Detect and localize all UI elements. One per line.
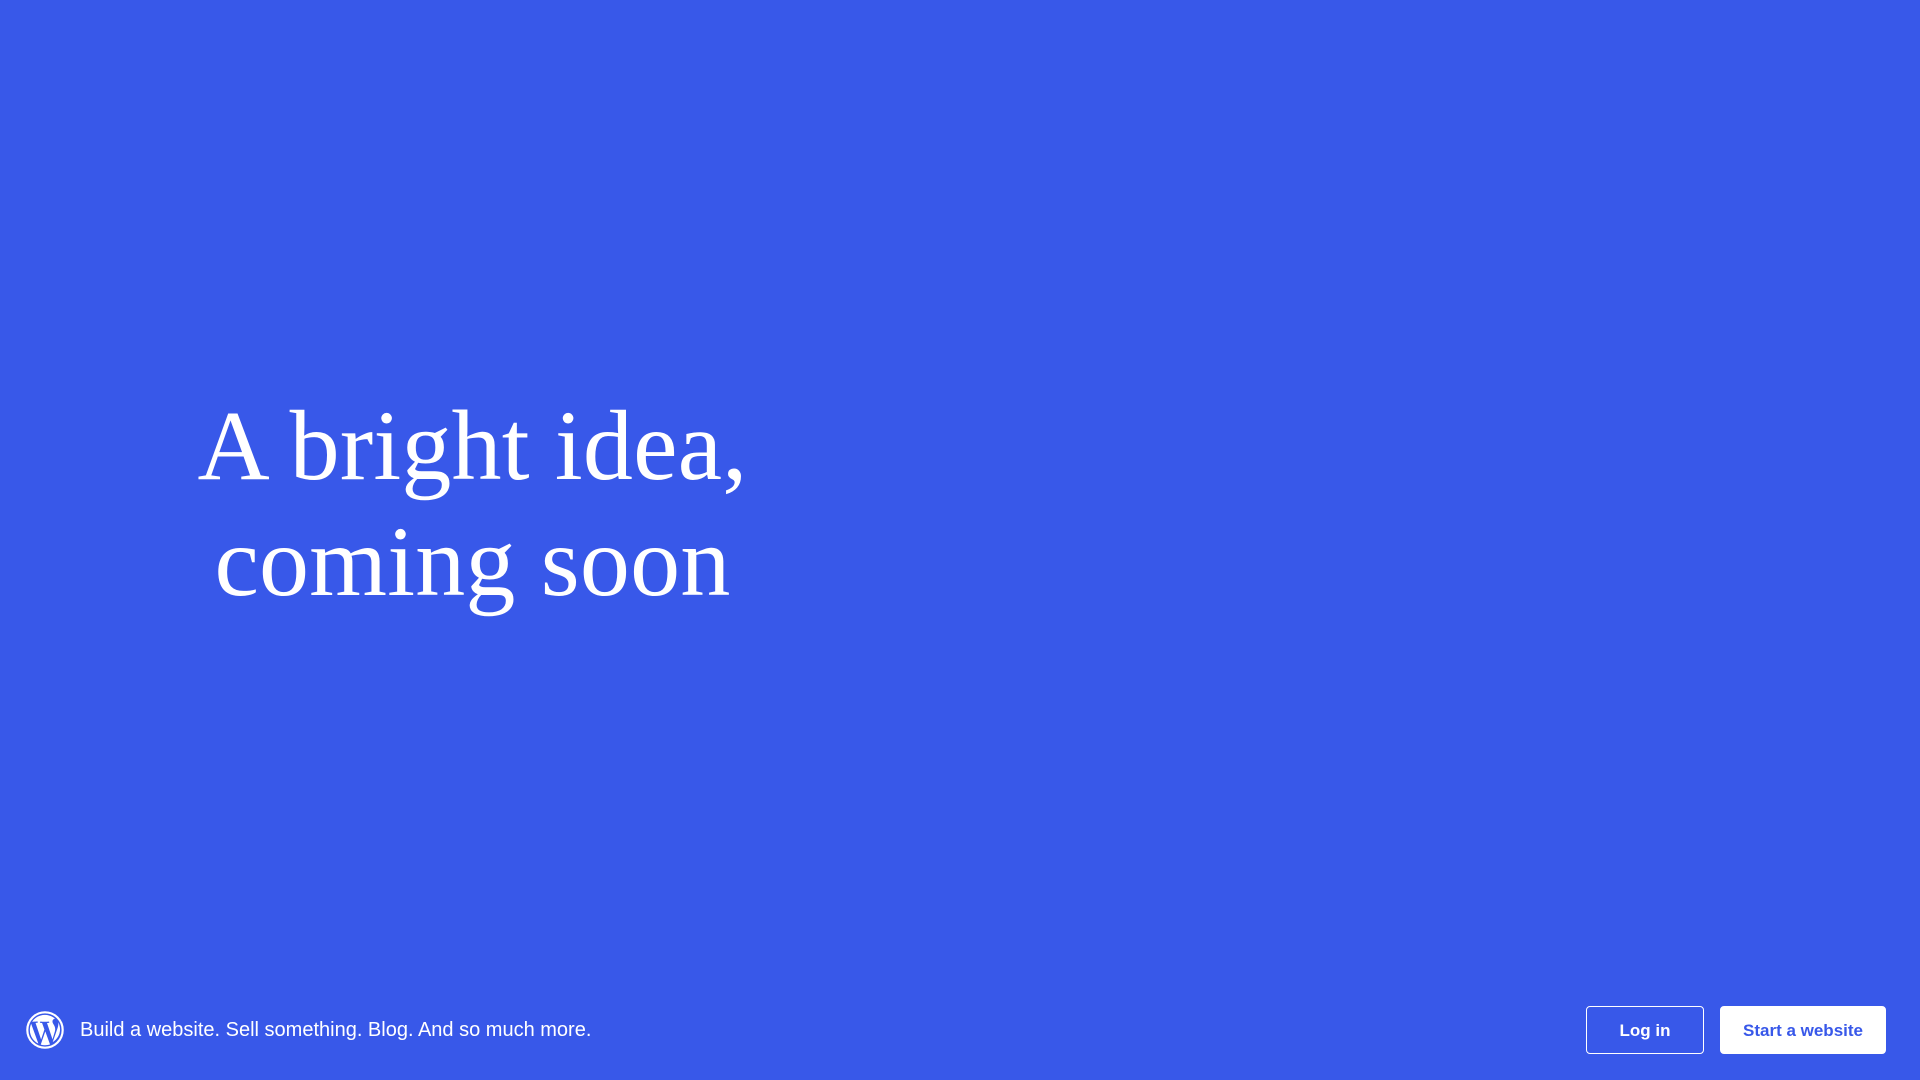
hero-section: A bright idea, coming soon <box>0 0 1920 980</box>
footer-tagline: Build a website. Sell something. Blog. A… <box>80 1018 591 1042</box>
footer-branding: Build a website. Sell something. Blog. A… <box>26 1011 591 1049</box>
footer-actions: Log in Start a website <box>1586 1006 1886 1054</box>
hero-content: A bright idea, coming soon <box>150 388 795 620</box>
log-in-button[interactable]: Log in <box>1586 1006 1704 1054</box>
page-title: A bright idea, coming soon <box>150 388 795 620</box>
footer-bar: Build a website. Sell something. Blog. A… <box>0 980 1920 1080</box>
wordpress-logo-icon <box>26 1011 64 1049</box>
start-a-website-button[interactable]: Start a website <box>1720 1006 1886 1054</box>
coming-soon-page: A bright idea, coming soon Build a websi… <box>0 0 1920 1080</box>
